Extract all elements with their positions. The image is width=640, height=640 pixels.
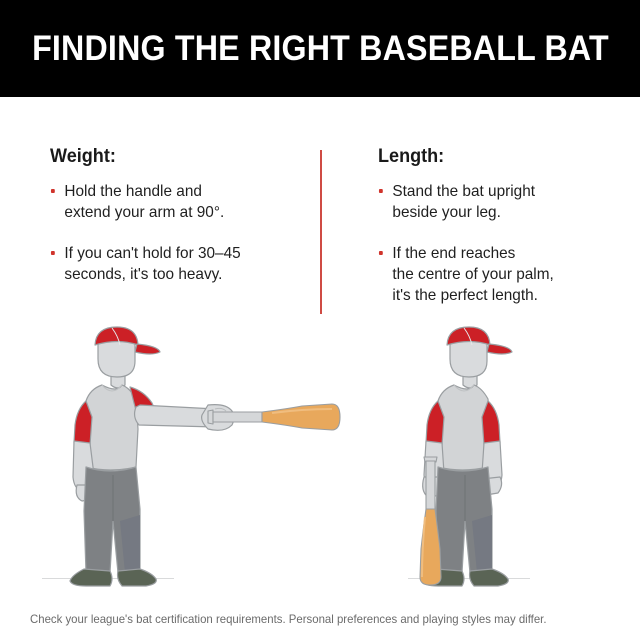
column-length: Length: Stand the bat upright beside you… xyxy=(378,147,618,306)
column-weight: Weight: Hold the handle and extend your … xyxy=(50,147,300,285)
header-band: FINDING THE RIGHT BASEBALL BAT xyxy=(0,0,640,97)
list-item: If the end reaches the centre of your pa… xyxy=(378,243,608,306)
page-title: FINDING THE RIGHT BASEBALL BAT xyxy=(32,31,609,66)
list-item: If you can't hold for 30–45 seconds, it'… xyxy=(50,243,290,285)
column-heading-weight: Weight: xyxy=(50,147,288,168)
bullet-list-length: Stand the bat upright beside your leg. I… xyxy=(378,181,618,307)
list-item: Stand the bat upright beside your leg. xyxy=(378,181,608,223)
column-heading-length: Length: xyxy=(378,147,606,168)
illustration-area xyxy=(0,325,640,595)
footer-note: Check your league's bat certification re… xyxy=(30,612,547,626)
infographic-page: FINDING THE RIGHT BASEBALL BAT Weight: H… xyxy=(0,0,640,640)
bullet-list-weight: Hold the handle and extend your arm at 9… xyxy=(50,181,300,285)
list-item: Hold the handle and extend your arm at 9… xyxy=(50,181,290,223)
player-arm-extended-illustration xyxy=(40,325,370,595)
column-divider xyxy=(320,150,322,314)
player-bat-upright-illustration xyxy=(400,325,600,595)
